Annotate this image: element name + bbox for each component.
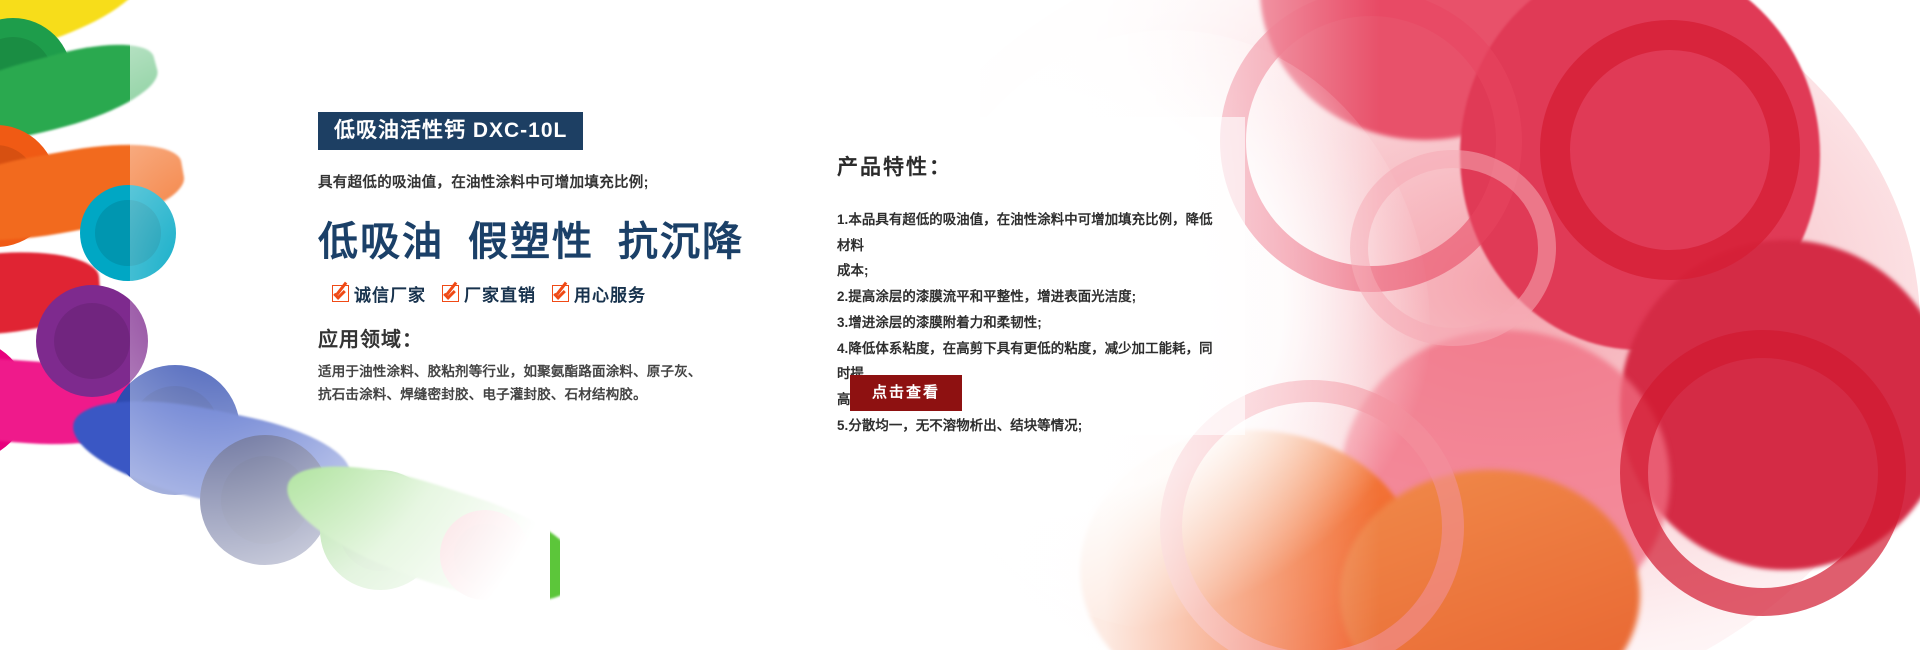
- product-title-tag: 低吸油活性钙 DXC-10L: [318, 112, 583, 150]
- checkbox-checked-icon: [442, 285, 459, 302]
- headline-word-3: 抗沉降: [618, 219, 744, 264]
- features-panel-title: 产品特性：: [837, 151, 1215, 181]
- trust-badge-3: 用心服务: [552, 281, 646, 306]
- feature-line: 1.本品具有超低的吸油值，在油性涂料中可增加填充比例，降低材料: [837, 207, 1215, 258]
- feature-line: 2.提高涂层的漆膜流平和平整性，增进表面光洁度;: [837, 284, 1215, 310]
- feature-line: 5.分散均一，无不溶物析出、结块等情况;: [837, 413, 1215, 439]
- trust-badge-label: 厂家直销: [464, 281, 536, 306]
- checkbox-checked-icon: [332, 285, 349, 302]
- product-banner: 低吸油活性钙 DXC-10L 具有超低的吸油值，在油性涂料中可增加填充比例; 低…: [0, 0, 1920, 650]
- liquid-ring-5: [1350, 150, 1556, 346]
- trust-badge-label: 用心服务: [574, 281, 646, 306]
- product-headline: 低吸油假塑性抗沉降: [318, 209, 738, 267]
- liquid-ring-2: [1540, 20, 1800, 280]
- application-section-title: 应用领域：: [318, 323, 738, 352]
- feature-line: 成本;: [837, 258, 1215, 284]
- liquid-ring-3: [1620, 330, 1906, 616]
- product-lead-text: 具有超低的吸油值，在油性涂料中可增加填充比例;: [318, 173, 738, 195]
- view-details-button[interactable]: 点击查看: [850, 375, 962, 411]
- application-section-body: 适用于油性涂料、胶粘剂等行业，如聚氨酯路面涂料、原子灰、抗石击涂料、焊缝密封胶、…: [318, 360, 713, 407]
- feature-line: 3.增进涂层的漆膜附着力和柔韧性;: [837, 310, 1215, 336]
- trust-badge-2: 厂家直销: [442, 281, 536, 306]
- trust-badge-label: 诚信厂家: [354, 281, 426, 306]
- checkbox-checked-icon: [552, 285, 569, 302]
- headline-word-1: 低吸油: [318, 219, 444, 264]
- trust-badge-row: 诚信厂家 厂家直销 用心服务: [332, 281, 738, 306]
- left-content-column: 低吸油活性钙 DXC-10L 具有超低的吸油值，在油性涂料中可增加填充比例; 低…: [318, 112, 738, 407]
- trust-badge-1: 诚信厂家: [332, 281, 426, 306]
- headline-word-2: 假塑性: [468, 219, 594, 264]
